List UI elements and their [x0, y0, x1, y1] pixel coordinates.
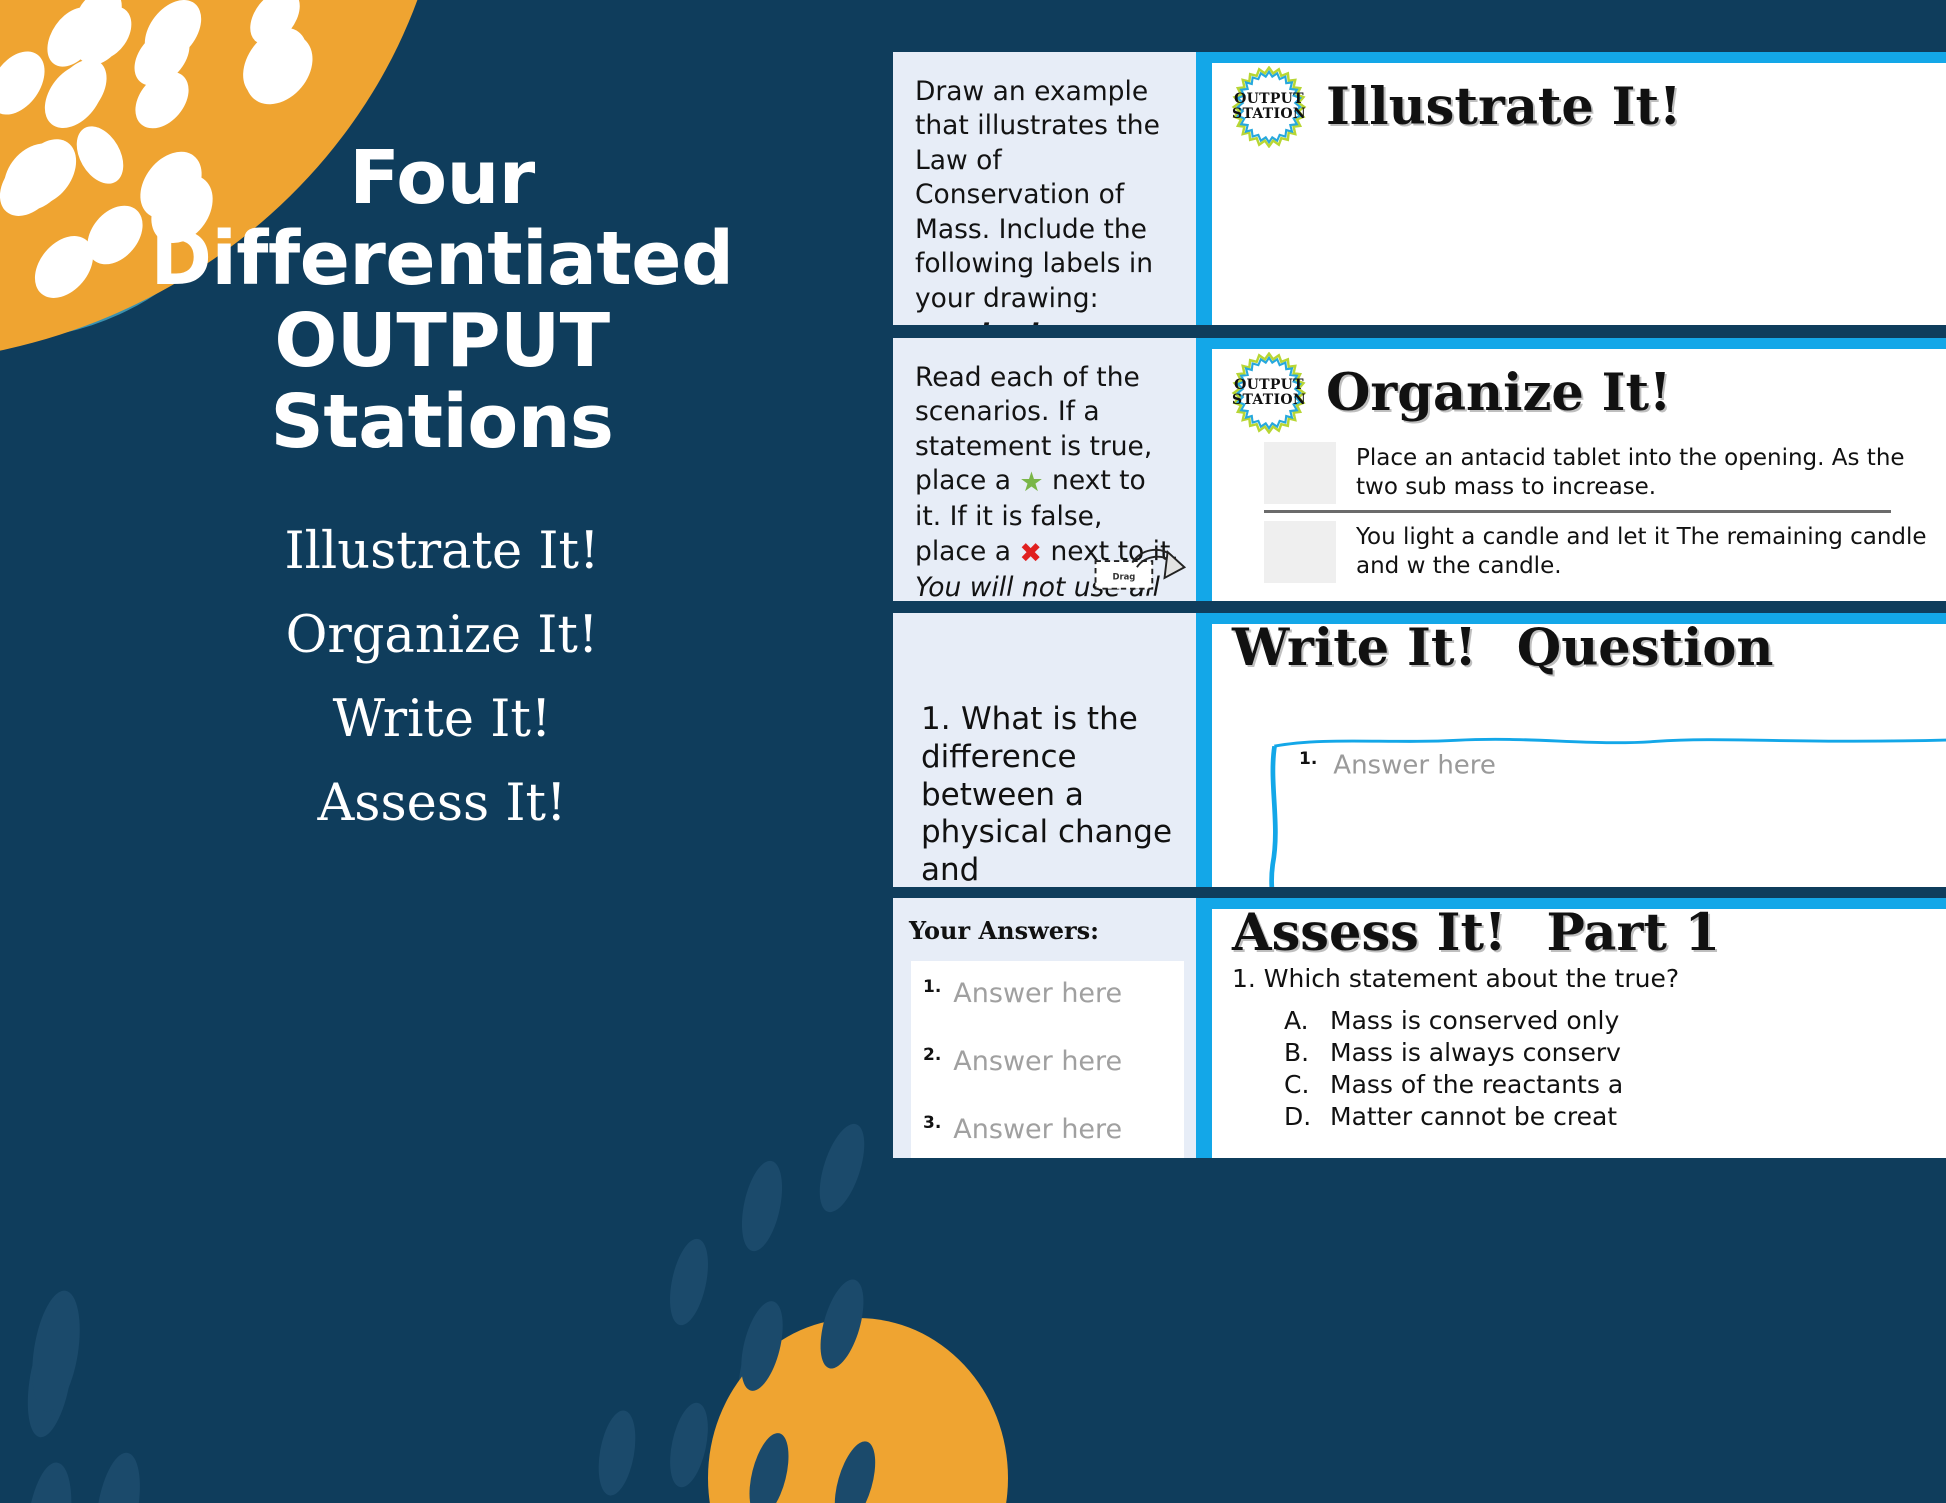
- scenario-text: You light a candle and let it The remain…: [1356, 521, 1946, 582]
- slide-title-assess: Assess It!Part 1: [1232, 908, 1720, 959]
- slide-body-write: Write It!Question 1.Answer here: [1196, 613, 1946, 887]
- station-list-item-illustrate: Illustrate It!: [82, 526, 802, 577]
- poster-canvas: Four Differentiated OUTPUT Stations Illu…: [0, 0, 1946, 1503]
- badge-label: OUTPUT STATION: [1228, 352, 1310, 434]
- station-list-item-assess: Assess It!: [82, 778, 802, 829]
- choice-text: Matter cannot be creat: [1330, 1101, 1617, 1133]
- scenario-list: Place an antacid tablet into the opening…: [1212, 434, 1946, 583]
- question-text-write: 1.What is the difference between a physi…: [893, 613, 1196, 887]
- slide-card-assess[interactable]: Your Answers: 1.Answer here 2.Answer her…: [893, 898, 1946, 1158]
- slide-body-assess: Assess It!Part 1 1. Which statement abou…: [1196, 898, 1946, 1158]
- choice-label: B.: [1284, 1037, 1330, 1069]
- choice-label: D.: [1284, 1101, 1330, 1133]
- page-title: Four Differentiated OUTPUT Stations: [82, 138, 802, 464]
- choice-option-b[interactable]: B. Mass is always conserv: [1232, 1037, 1946, 1069]
- scenario-row[interactable]: You light a candle and let it The remain…: [1264, 521, 1946, 583]
- drag-handle-icon[interactable]: Drag: [1094, 541, 1186, 595]
- star-icon: ★: [1019, 467, 1043, 498]
- headline-line-2: Differentiated: [82, 219, 802, 300]
- slide-header-write: Write It!Question: [1212, 613, 1946, 674]
- slide-title-main: Write It!: [1232, 618, 1477, 678]
- badge-line-2: STATION: [1232, 107, 1306, 122]
- choice-label: A.: [1284, 1005, 1330, 1037]
- slide-title-organize: Organize It!: [1326, 368, 1671, 419]
- headline-line-3: OUTPUT: [82, 301, 802, 382]
- slide-card-write[interactable]: 1.What is the difference between a physi…: [893, 613, 1946, 887]
- multiple-choice-question: 1. Which statement about the true? A. Ma…: [1212, 959, 1946, 1133]
- drop-target-box[interactable]: [1264, 442, 1336, 504]
- headline-line-1: Four: [82, 138, 802, 219]
- slide-body-organize: OUTPUT STATION Organize It! Place an ant…: [1196, 338, 1946, 601]
- slide-card-illustrate[interactable]: Draw an example that illustrates the Law…: [893, 52, 1946, 325]
- station-list-item-write: Write It!: [82, 694, 802, 745]
- slide-title-sub: Question: [1517, 618, 1774, 678]
- scenario-row[interactable]: Place an antacid tablet into the opening…: [1264, 442, 1946, 504]
- slide-prompt-pane: Draw an example that illustrates the Law…: [893, 52, 1196, 325]
- answer-number: 1.: [923, 977, 941, 997]
- your-answers-heading: Your Answers:: [893, 898, 1196, 945]
- row-divider: [1264, 510, 1891, 513]
- answer-placeholder-text: Answer here: [953, 1046, 1122, 1077]
- question-number: 1.: [921, 701, 961, 739]
- slide-preview-stack: Draw an example that illustrates the Law…: [893, 0, 1946, 1503]
- answer-row[interactable]: 2.Answer here: [911, 1045, 1184, 1077]
- choice-label: C.: [1284, 1069, 1330, 1101]
- slide-prompt-pane: 1.What is the difference between a physi…: [893, 613, 1196, 887]
- answer-box-write[interactable]: 1.Answer here: [1267, 731, 1946, 887]
- answer-placeholder-text: Answer here: [953, 978, 1122, 1009]
- prompt-text-illustrate: Draw an example that illustrates the Law…: [893, 52, 1196, 325]
- headline-line-4: Stations: [82, 382, 802, 463]
- prompt-bold-terms: reactants, products, reaction (or change…: [915, 317, 1142, 325]
- badge-label: OUTPUT STATION: [1228, 66, 1310, 148]
- slide-body-illustrate: OUTPUT STATION Illustrate It!: [1196, 52, 1946, 325]
- answer-number: 3.: [923, 1113, 941, 1133]
- question-stem: 1. Which statement about the true?: [1232, 963, 1946, 995]
- slide-title-write: Write It!Question: [1232, 623, 1774, 674]
- slide-title-main: Assess It!: [1232, 903, 1506, 963]
- slide-prompt-pane: Read each of the scenarios. If a stateme…: [893, 338, 1196, 601]
- drop-target-box[interactable]: [1264, 521, 1336, 583]
- badge-line-1: OUTPUT: [1234, 92, 1304, 107]
- slide-header-organize: OUTPUT STATION Organize It!: [1212, 338, 1946, 434]
- slide-card-organize[interactable]: Read each of the scenarios. If a stateme…: [893, 338, 1946, 601]
- slide-title-illustrate: Illustrate It!: [1326, 82, 1681, 133]
- output-station-badge-icon: OUTPUT STATION: [1228, 352, 1310, 434]
- badge-line-1: OUTPUT: [1234, 378, 1304, 393]
- choice-option-a[interactable]: A. Mass is conserved only: [1232, 1005, 1946, 1037]
- output-station-badge-icon: OUTPUT STATION: [1228, 66, 1310, 148]
- choice-option-d[interactable]: D. Matter cannot be creat: [1232, 1101, 1946, 1133]
- station-list-item-organize: Organize It!: [82, 610, 802, 661]
- answer-placeholder-write: 1.Answer here: [1299, 749, 1496, 781]
- slide-prompt-pane: Your Answers: 1.Answer here 2.Answer her…: [893, 898, 1196, 1158]
- slide-header-assess: Assess It!Part 1: [1212, 898, 1946, 959]
- slide-title-sub: Part 1: [1546, 903, 1720, 963]
- station-name-list: Illustrate It! Organize It! Write It! As…: [82, 526, 802, 862]
- answer-placeholder-text: Answer here: [953, 1114, 1122, 1145]
- choice-text: Mass is always conserv: [1330, 1037, 1621, 1069]
- x-mark-icon: ✖: [1019, 538, 1042, 569]
- answer-placeholder-text: Answer here: [1333, 751, 1496, 781]
- choice-text: Mass is conserved only: [1330, 1005, 1619, 1037]
- svg-text:Drag: Drag: [1112, 572, 1135, 582]
- your-answers-box[interactable]: 1.Answer here 2.Answer here 3.Answer her…: [911, 961, 1184, 1158]
- answer-row[interactable]: 3.Answer here: [911, 1113, 1184, 1145]
- prompt-plain: Draw an example that illustrates the Law…: [915, 76, 1160, 314]
- left-text-column: Four Differentiated OUTPUT Stations Illu…: [0, 0, 884, 1503]
- choice-option-c[interactable]: C. Mass of the reactants a: [1232, 1069, 1946, 1101]
- answer-number: 2.: [923, 1045, 941, 1065]
- scenario-text: Place an antacid tablet into the opening…: [1356, 442, 1946, 503]
- answer-row[interactable]: 1.Answer here: [911, 977, 1184, 1009]
- answer-number: 1.: [1299, 749, 1317, 769]
- choice-text: Mass of the reactants a: [1330, 1069, 1623, 1101]
- slide-header-illustrate: OUTPUT STATION Illustrate It!: [1212, 52, 1946, 148]
- badge-line-2: STATION: [1232, 393, 1306, 408]
